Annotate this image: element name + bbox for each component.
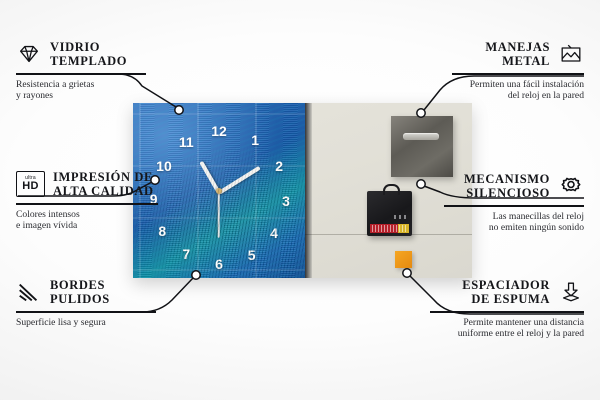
mechanism-detail <box>394 215 408 219</box>
infographic-canvas: 12 1 2 3 4 5 6 7 8 9 10 11 <box>0 0 600 400</box>
ultra-hd-icon-main: HD <box>22 181 39 192</box>
callout-mecanismo-silencioso[interactable]: MECANISMO SILENCIOSO Las manecillas del … <box>444 172 584 234</box>
clock-numerals: 12 1 2 3 4 5 6 7 8 9 10 11 <box>133 103 305 278</box>
clock-hour-hand <box>199 160 220 193</box>
callout-header: ultra HD IMPRESIÓN DE ALTA CALIDAD <box>16 170 158 198</box>
callout-header: MECANISMO SILENCIOSO <box>444 172 584 200</box>
callout-rule <box>16 203 158 205</box>
callout-bordes-pulidos[interactable]: BORDES PULIDOS Superficie lisa y segura <box>16 278 156 328</box>
clock-second-hand <box>218 191 220 237</box>
product-photo: 12 1 2 3 4 5 6 7 8 9 10 11 <box>133 103 472 278</box>
clock-numeral: 4 <box>270 226 278 240</box>
clock-minute-hand <box>218 165 261 194</box>
picture-frame-icon <box>558 42 584 66</box>
callout-rule <box>430 311 584 313</box>
callout-impresion-alta-calidad[interactable]: ultra HD IMPRESIÓN DE ALTA CALIDAD Color… <box>16 170 158 232</box>
callout-manejas-metal[interactable]: MANEJAS METAL Permiten una fácil instala… <box>452 40 584 102</box>
callout-description: Superficie lisa y segura <box>16 317 156 329</box>
clock-numeral: 2 <box>275 159 283 173</box>
mechanism-label-strip <box>370 224 409 233</box>
metal-hanger-plate <box>391 116 453 177</box>
wall-clock-face: 12 1 2 3 4 5 6 7 8 9 10 11 <box>133 103 305 278</box>
callout-description: Permite mantener una distancia uniforme … <box>430 317 584 340</box>
hanger-slot <box>403 133 439 140</box>
diagonal-lines-icon <box>16 280 42 304</box>
foam-spacer <box>395 251 412 268</box>
clock-numeral: 7 <box>182 247 190 261</box>
clock-numeral: 10 <box>156 159 172 173</box>
callout-title: MANEJAS METAL <box>485 40 550 68</box>
callout-header: MANEJAS METAL <box>452 40 584 68</box>
callout-header: VIDRIO TEMPLADO <box>16 40 146 68</box>
callout-description: Permiten una fácil instalación del reloj… <box>452 79 584 102</box>
callout-title: ESPACIADOR DE ESPUMA <box>462 278 550 306</box>
callout-header: ESPACIADOR DE ESPUMA <box>430 278 584 306</box>
callout-rule <box>16 73 146 75</box>
callout-description: Las manecillas del reloj no emiten ningú… <box>444 211 584 234</box>
callout-espaciador-espuma[interactable]: ESPACIADOR DE ESPUMA Permite mantener un… <box>430 278 584 340</box>
clock-center-pin <box>216 188 222 194</box>
callout-vidrio-templado[interactable]: VIDRIO TEMPLADO Resistencia a grietas y … <box>16 40 146 102</box>
callout-rule <box>444 205 584 207</box>
clock-numeral: 1 <box>251 133 259 147</box>
callout-description: Colores intensos e imagen vívida <box>16 209 158 232</box>
gear-icon <box>558 174 584 198</box>
clock-numeral: 5 <box>248 248 256 262</box>
clock-numeral: 3 <box>282 194 290 208</box>
diamond-icon <box>16 42 42 66</box>
clock-edge-shadow <box>305 103 312 278</box>
arrow-down-pad-icon <box>558 280 584 304</box>
clock-numeral: 11 <box>179 135 194 149</box>
ultra-hd-icon: ultra HD <box>16 171 45 197</box>
callout-rule <box>452 73 584 75</box>
callout-title: IMPRESIÓN DE ALTA CALIDAD <box>53 170 154 198</box>
clock-grid-overlay <box>133 103 305 278</box>
clock-numeral: 6 <box>215 257 223 271</box>
callout-title: MECANISMO SILENCIOSO <box>464 172 550 200</box>
callout-title: VIDRIO TEMPLADO <box>50 40 127 68</box>
clock-mechanism <box>367 191 412 236</box>
callout-description: Resistencia a grietas y rayones <box>16 79 146 102</box>
callout-header: BORDES PULIDOS <box>16 278 156 306</box>
callout-rule <box>16 311 156 313</box>
callout-title: BORDES PULIDOS <box>50 278 110 306</box>
clock-numeral: 12 <box>211 124 227 138</box>
clock-numeral: 8 <box>158 224 166 238</box>
mechanism-shaft <box>383 184 400 195</box>
